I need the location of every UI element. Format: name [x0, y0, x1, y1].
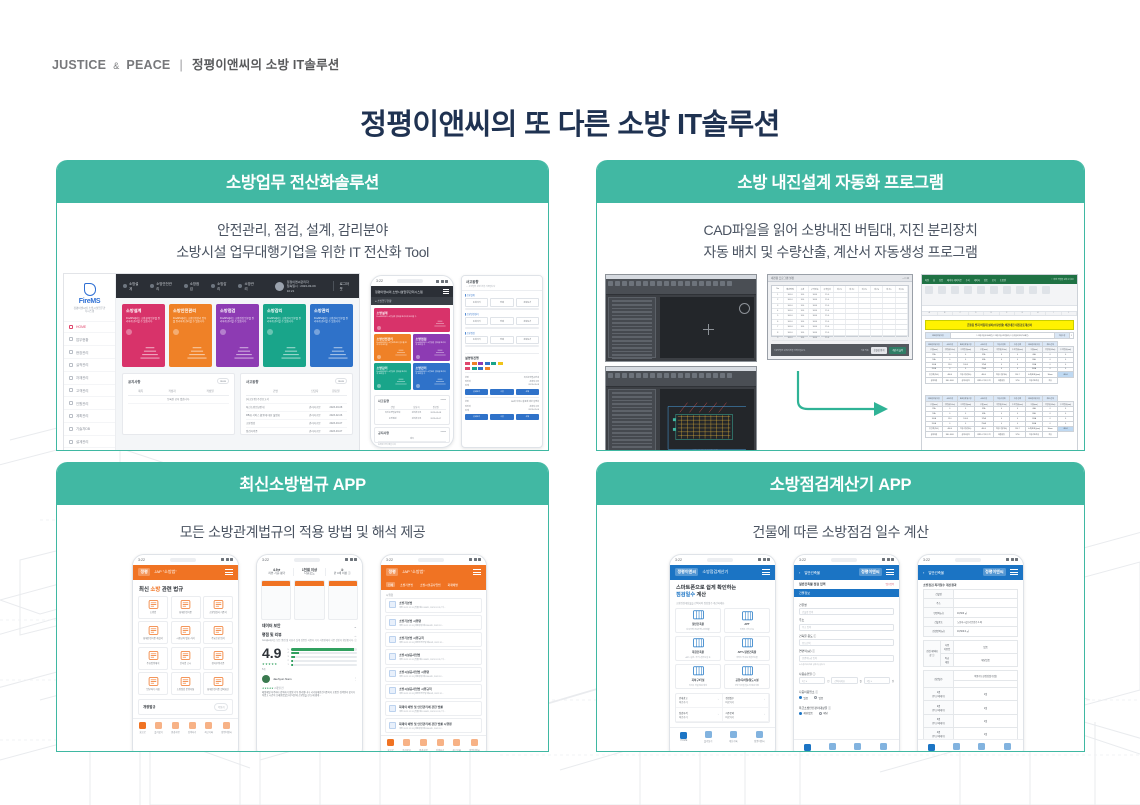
list-item[interactable]: 소방시설공사업법 시행규칙개정 2022.12.31 [행정안전부령 제00호,…	[385, 684, 482, 699]
data-security-label: 데이터 보안	[262, 624, 281, 629]
trend-col-1: 담당자	[305, 387, 325, 395]
dlg-cell-3-10	[896, 309, 908, 313]
hamburger-icon-4[interactable]	[886, 569, 894, 575]
radio-calc-radio-1-1[interactable]: 없음	[814, 696, 823, 700]
law-category-7[interactable]: 건축법 고시	[171, 647, 201, 670]
law-filter-3[interactable]: 화재예방	[446, 582, 460, 587]
card-law-app: 최신소방법규 APP 모든 소방관계법규의 적용 방법 및 해석 제공 3:22…	[56, 462, 549, 752]
chevron-down-icon[interactable]: ⌄	[354, 624, 357, 629]
law-filter-1[interactable]: 소방기본법	[398, 582, 415, 587]
mobile-tile-arrow-1[interactable]	[377, 355, 381, 359]
m2-k-1-0: 현장	[465, 400, 469, 403]
mobile-tile-arrow-3[interactable]	[377, 384, 381, 388]
fireMS-menu-item-2[interactable]: 현장관리	[64, 345, 115, 358]
m2-k-0-1: 담당자	[465, 380, 471, 383]
dlg-cell-7-2: 100	[797, 330, 809, 334]
menu-label-7: 계획관리	[76, 413, 88, 418]
m2-act-0-0[interactable]: 상세보기	[465, 389, 488, 395]
mobile2-title: 사고동향	[466, 279, 538, 284]
calc-type-5[interactable]: 공항/지하철/철도시설공항 지하철 철도역 점검 대상	[724, 664, 770, 689]
law-category-grid[interactable]: 소방법화재안전기준소방법검사 기준서화재안전기준 해설서시행규칙 별표 서식주요…	[133, 596, 238, 696]
panel-notice: 공지사항 more 제목 작성자 작성일 등록된 공지 없습니다.	[122, 373, 235, 435]
mobile2-btn-1-2[interactable]: 상세보기	[516, 317, 539, 325]
menu-label-0: HOME	[76, 325, 86, 329]
tab-home[interactable]: HOME	[680, 732, 687, 742]
list-item[interactable]: 화재의 예방 및 안전관리에 관한 법률개정 2022.12.31 [법률 제1…	[385, 701, 482, 716]
chevron-right-icon-1: ›	[764, 699, 765, 701]
law-category-8[interactable]: 행자부령기준	[203, 647, 233, 670]
cad-screenshot-top	[605, 274, 757, 362]
excel-colhdr-8: I	[1046, 312, 1062, 315]
calc-field-1[interactable]: 주소주소 입력	[799, 618, 894, 631]
topbar-item-4[interactable]: 소방관리	[238, 281, 256, 291]
tab-label-2: 변경사항	[419, 748, 427, 752]
fireMS-menu-item-8[interactable]: 기술자DB	[64, 422, 115, 435]
dialog-close-icon[interactable]: – □ ✕	[902, 277, 909, 280]
play-store-phone: 3:22 4.9★리뷰 기준 평가1천회 이상다운로드①만 3세 이상 ⓘ 데이…	[256, 554, 363, 752]
mobile-tile-arrow-0[interactable]	[377, 326, 381, 330]
calc-radio-2-label: 특급소방안전관리대상물 ⓘ	[799, 706, 894, 710]
calc-field-input-2[interactable]: 용도선택	[799, 639, 894, 646]
tab-search[interactable]: 검색하기	[188, 722, 196, 734]
calc-tabbar-3[interactable]: HOME즐겨찾기계산기록정평이앤씨	[918, 739, 1023, 752]
result-exception-val-0: 없음	[954, 640, 1018, 653]
calc-form-subsection: 건물정보	[794, 589, 899, 597]
calc-link-3[interactable]: 자주문의바로가기›	[723, 708, 770, 722]
doc-icon	[213, 599, 224, 610]
tile-arrow-icon-4[interactable]	[314, 329, 320, 335]
radio-calc-radio-2-0[interactable]: 해당없음	[799, 711, 813, 715]
topbar-item-3[interactable]: 소방감리	[211, 281, 229, 291]
mobile2-btn-0-0[interactable]: 조회하기	[465, 298, 488, 306]
mobile2-btn-1-1[interactable]: 전체	[490, 317, 513, 325]
mobile2-btn-1-0[interactable]: 조회하기	[465, 317, 488, 325]
hamburger-icon[interactable]	[225, 569, 233, 575]
data-security-section[interactable]: 데이터 보안 ⌄	[257, 620, 362, 629]
list-item[interactable]: 소방기본법개정 2022.12.31 [법률 제19160호, 2023.12.…	[385, 598, 482, 613]
tab-label-4: 최근기록	[205, 730, 213, 734]
tile-arrow-icon-1[interactable]	[173, 329, 179, 335]
tab-filter[interactable]: 변경사항	[419, 739, 427, 751]
mobile2-card-0[interactable]: 현장최신소방법규안내담당자관리자구분상태2023-03-08상세보기수정삭제	[465, 372, 539, 397]
calc-appbar: 정평이앤씨 소방점검계산기	[670, 565, 775, 580]
download-icon	[453, 739, 460, 746]
tab-label-3: 정평이앤씨	[754, 739, 765, 743]
fireMS-menu-item-5[interactable]: 고객관리	[64, 384, 115, 397]
topbar-item-1[interactable]: 소방안전관리	[150, 281, 175, 291]
calc-field-3[interactable]: 연면적(㎡) ⓘ연면적(㎡) 입력소수점2자리까지 입력가능합니다	[799, 649, 894, 666]
law-filter-2[interactable]: 소방시설공사업법	[418, 582, 443, 587]
mobile2-btn-2-0[interactable]: 조회하기	[465, 336, 488, 344]
dlg-cell-8-7	[859, 336, 871, 340]
tab-doc[interactable]: 계산기록	[853, 743, 861, 752]
rating-count: 5개	[262, 667, 281, 671]
fireMS-tile-2[interactable]: 소방점검FireMS에서는 소방점검 업무를 편리하게 관리할 수 있습니다.	[216, 304, 259, 367]
list-item[interactable]: 화재의 예방 및 안전관리에 관한 법률 시행령개정 2022.12.31 [대…	[385, 718, 482, 733]
tab-star[interactable]: 즐겨찾기	[828, 743, 836, 752]
calc-link-1[interactable]: 점검일수바로가기›	[723, 694, 770, 708]
fireMS-desktop-screenshot: FireMS 정평이앤씨의 소방시설업무관리시스템 HOME업무현황현장관리실적…	[63, 273, 360, 451]
result-day-key-1: 2명(주소/세대수)	[924, 701, 954, 714]
back-icon[interactable]: ‹	[799, 570, 800, 575]
rating-bar-star-3: 2	[287, 660, 288, 662]
mobile-panel-2-more[interactable]: more	[441, 431, 446, 435]
m2-act-0-1[interactable]: 수정	[490, 389, 513, 395]
mobile2-btn-0-1[interactable]: 전체	[490, 298, 513, 306]
mobile2-card-1[interactable]: 현장DB화 서비스 활용에 대한 설명회담당자관리자구분상태2023-02-06…	[465, 397, 539, 422]
calc-building-type-grid[interactable]: 일반건축물단독주택 공동주택 근린생활APT아파트 기숙사 등복합건축물APT+…	[670, 608, 775, 689]
law-revision-more[interactable]: 더보기	[214, 703, 228, 711]
tab-label-1: 즐겨찾기	[704, 739, 712, 743]
law-category-9[interactable]: 업무처리 지침	[138, 672, 168, 695]
excel-ribbon-tabs[interactable]: 파일홈삽입페이지 레이아웃수식데이터검토보기도움말♡ 어떤 작업을 원하시나요?	[922, 275, 1077, 284]
law-list-appbar: 정평 JAP "소방법"	[381, 565, 486, 580]
calc-field-2[interactable]: 건축물 용도 ⓘ용도선택	[799, 634, 894, 647]
calc-approval-input-0[interactable]: 1년 ▾	[799, 677, 825, 684]
hamburger-icon-3[interactable]	[762, 569, 770, 575]
excel-tab-4[interactable]: 수식	[966, 278, 970, 282]
calc-radio-group-1[interactable]: 다중이용업소 ⓘ 있음없음	[794, 684, 899, 700]
tab-home[interactable]: HOME	[804, 744, 811, 752]
tab-doc[interactable]: 계산기록	[977, 743, 985, 752]
law-doc-icon-0	[389, 601, 396, 608]
hamburger-icon-2[interactable]	[473, 569, 481, 575]
law-category-11[interactable]: 화재안전기준 질의회신	[203, 672, 233, 695]
logout-button[interactable]: 로그아웃	[333, 281, 352, 291]
mobile2-btn-0-2[interactable]: 상세보기	[516, 298, 539, 306]
tile-arrow-icon-2[interactable]	[220, 329, 226, 335]
calc-hero-line1: 스마트폰으로 쉽게 확인하는	[676, 585, 769, 592]
mobile-tile-3[interactable]: 소방감리FireMS에서는 소방감리 업무를 편리하게 관리할 수	[374, 363, 411, 390]
list-item[interactable]: 소방기본법 시행규칙개정 2022.12.31 [행정안전부령 제00호, 20…	[385, 632, 482, 647]
mobile-tile-arrow-2[interactable]	[416, 355, 420, 359]
m2-act-1-2[interactable]: 삭제	[516, 414, 539, 420]
law-list-title: JAP "소방법"	[402, 569, 469, 575]
mobile-tile-title-1: 소방안전관리	[377, 337, 409, 341]
play-store-screenshots[interactable]	[257, 580, 362, 620]
law-list[interactable]: 소방기본법개정 2022.12.31 [법률 제19160호, 2023.12.…	[381, 598, 486, 734]
tab-company[interactable]: 정평이앤씨	[1002, 743, 1013, 752]
mobile-tile-0[interactable]: 소방설계FireMS에서는 소방설계 업무를 편리하게 관리할 수	[374, 308, 450, 332]
tab-company[interactable]: 정평이앤씨	[469, 739, 480, 751]
review-date: 2개월 전	[274, 687, 283, 690]
calc-field-input-0[interactable]: 건물명 입력	[799, 608, 894, 615]
tab-search[interactable]: 검색하기	[436, 739, 444, 751]
calc-field-0[interactable]: 건물명건물명 입력	[799, 603, 894, 616]
calc-link-2[interactable]: 점검자격바로가기›	[676, 708, 723, 722]
fireMS-menu-item-4[interactable]: 자재관리	[64, 371, 115, 384]
tab-label-5: 정평이앤씨	[469, 748, 480, 752]
calc-type-1[interactable]: APT아파트 기숙사 등	[724, 608, 770, 633]
law-list-phone: 3:22 정평 JAP "소방법" 전체소방기본법소방시설공사업법화재예방 시행…	[380, 554, 487, 752]
tab-label-3: 검색하기	[436, 748, 444, 752]
fireMS-user-block[interactable]: 정정이앤씨관리자 접속일시 : 2023-03-09 10:21	[275, 280, 324, 293]
result-exception-key-0: 다중이용업	[940, 640, 953, 653]
fireMS-tile-4[interactable]: 소방관리FireMS에서는 소방관리 업무를 편리하게 관리할 수 있습니다.	[310, 304, 353, 367]
panel-trend-more[interactable]: more	[335, 378, 347, 384]
tab-company[interactable]: 정평이앤씨	[878, 743, 889, 752]
tab-star[interactable]: 즐겨찾기	[952, 743, 960, 752]
result-day-val-1: 1일	[954, 701, 1018, 714]
excel-tab-7[interactable]: 보기	[992, 278, 996, 282]
tab-filter[interactable]: 변경사항	[171, 722, 179, 734]
store-stat-0: 4.9★리뷰 기준 평가	[261, 568, 294, 576]
list-item[interactable]: 소방시설공사업법개정 2022.12.31 [법률 제19160호, 2023.…	[385, 649, 482, 664]
tab-star[interactable]: 즐겨찾기	[704, 731, 712, 743]
blueprint-icon	[137, 339, 163, 365]
card-4-media: 3:22 정평이앤씨 소방점검계산기 스마트폰으로 쉽게 확인하는 점검일수 계…	[597, 550, 1084, 752]
fireMS-menu-item-9[interactable]: 설계관리	[64, 435, 115, 448]
store-shot-1[interactable]	[261, 580, 291, 620]
dlg-cell-2-9	[883, 304, 895, 308]
law-category-3[interactable]: 화재안전기준 해설서	[138, 621, 168, 644]
calc-type-label-2: 복합건축물	[692, 650, 704, 654]
dlg-cell-5-1: 100.0	[784, 320, 796, 324]
fireMS-tile-3[interactable]: 소방감리FireMS에서는 소방감리 업무를 편리하게 관리할 수 있습니다.	[263, 304, 306, 367]
table-row[interactable]: 최신소방법규안내관리자구분2023-03-08	[246, 403, 347, 411]
excel-cell-5-1: 380~1000	[942, 378, 957, 384]
list-item[interactable]: 소방시설공사업법 시행령개정 2022.12.31 [대통령령 제33004호,…	[385, 667, 482, 682]
excel-tab-1[interactable]: 홈	[933, 278, 935, 282]
store-shot-3[interactable]	[328, 580, 358, 620]
dlg-cell-4-10	[896, 314, 908, 318]
calc-type-2[interactable]: 복합건축물APT+일반 / 주거+업무시설 등	[675, 636, 721, 661]
calc-form-logo: 정평이앤씨	[859, 568, 882, 576]
excel-tab-6[interactable]: 검토	[984, 278, 988, 282]
rating-bar-star-4: 1	[287, 664, 288, 666]
tools-icon	[180, 650, 191, 661]
home-icon	[928, 744, 935, 751]
back-icon-2[interactable]: ‹	[923, 570, 924, 575]
result-day-key-2: 3명(주소/세대수)	[924, 714, 954, 727]
filter-icon	[172, 722, 179, 729]
excel-tab-2[interactable]: 삽입	[939, 278, 943, 282]
calc-tabbar-1[interactable]: HOME즐겨찾기계산기록정평이앤씨	[670, 727, 775, 747]
calc-type-label-1: APT	[744, 623, 749, 626]
dlg-cell-8-6	[846, 336, 858, 340]
calc-approval-input-4[interactable]: 1일 ▾	[864, 677, 890, 684]
calc-home-phone: 3:22 정평이앤씨 소방점검계산기 스마트폰으로 쉽게 확인하는 점검일수 계…	[669, 554, 776, 752]
fireMS-menu-item-0[interactable]: HOME	[64, 321, 115, 333]
dlg-cell-1-10	[896, 298, 908, 302]
fireMS-menu-item-1[interactable]: 업무현황	[64, 332, 115, 345]
dlg-cell-4-4: 15.0	[821, 314, 833, 318]
tab-star[interactable]: 즐겨찾기	[402, 739, 410, 751]
tab-label-0: 홈으로	[387, 748, 393, 752]
status-time-law-1: 3:22	[138, 558, 145, 562]
dlg-cell-4-0: 5	[772, 314, 784, 318]
tab-star[interactable]: 즐겨찾기	[154, 722, 162, 734]
law-revision-bar[interactable]: 개정법규 더보기	[138, 699, 233, 715]
law-category-label-8: 행자부령기준	[211, 663, 226, 666]
law-category-0[interactable]: 소방법	[138, 596, 168, 619]
excel-tab-0[interactable]: 파일	[925, 278, 929, 282]
tab-download[interactable]: 최근기록	[205, 722, 213, 734]
tab-download[interactable]: 최근기록	[453, 739, 461, 751]
card-3-description: 모든 소방관계법규의 적용 방법 및 해석 제공	[57, 505, 548, 550]
fireMS-menu-list[interactable]: HOME업무현황현장관리실적관리자재관리고객관리인원관리계획관리기술자DB설계관…	[64, 321, 115, 451]
fireMS-menu-item-3[interactable]: 실적관리	[64, 358, 115, 371]
law-category-1[interactable]: 화재안전기준	[171, 596, 201, 619]
review-block: Jaehyun Nam ⋮ ★★★★★ 2개월 전 매일매일 자주마다 검색하기…	[257, 671, 362, 698]
m2-act-1-0[interactable]: 상세보기	[465, 414, 488, 420]
dlg-cell-0-7	[859, 293, 871, 297]
tab-home[interactable]: HOME	[928, 744, 935, 752]
list-item[interactable]: 소방기본법 시행령개정 2022.12.31 [대통령령 제33004호, 20…	[385, 615, 482, 630]
law-category-4[interactable]: 시행규칙 별표 서식	[171, 621, 201, 644]
tab-company[interactable]: 정평이앤씨	[754, 731, 765, 743]
fireMS-menu-item-7[interactable]: 계획관리	[64, 409, 115, 422]
calc-appbar-logo: 정평이앤씨	[675, 568, 698, 576]
dlg-cell-5-7	[859, 320, 871, 324]
topbar-item-2[interactable]: 소방점검	[184, 281, 202, 291]
hamburger-icon-5[interactable]	[1010, 569, 1018, 575]
excel-tab-5[interactable]: 데이터	[974, 278, 980, 282]
dlg-col-1: 배관명칭	[784, 286, 796, 291]
status-time-law-3: 3:22	[386, 558, 393, 562]
review-menu-icon[interactable]: ⋮	[354, 677, 357, 681]
apartment-icon	[741, 610, 754, 621]
calc-quick-links[interactable]: 안내광고바로가기›점검일수바로가기›점검자격바로가기›자주문의바로가기›	[675, 693, 770, 723]
calc-field-input-1[interactable]: 주소 입력	[799, 624, 894, 631]
law-filter-0[interactable]: 전체	[386, 582, 395, 587]
dialog-calc-button[interactable]: 계산서 출력	[889, 347, 906, 354]
ratings-section[interactable]: 평점 및 리뷰 →	[257, 629, 362, 638]
mixed-building-icon	[692, 637, 705, 648]
tile-sub-2: FireMS에서는 소방점검 업무를 편리하게 관리할 수 있습니다.	[220, 317, 255, 323]
mobile-tile-arrow-4[interactable]	[416, 384, 420, 388]
topbar-item-0[interactable]: 소방설계	[123, 281, 141, 291]
dialog-field-value[interactable]: 흔들림 방지	[871, 347, 888, 354]
calc-radio-group-2[interactable]: 특급소방안전관리대상물 ⓘ 해당없음해당	[794, 700, 899, 716]
law-category-10[interactable]: 소방점검 운영지침	[171, 672, 201, 695]
panel-notice-more[interactable]: more	[217, 378, 229, 384]
excel-tab-8[interactable]: 도움말	[1000, 278, 1006, 282]
fireMS-tile-row: 소방설계FireMS에서는 소방설계 업무를 편리하게 관리할 수 있습니다.소…	[116, 298, 359, 367]
tab-company[interactable]: 정평이앤씨	[221, 722, 232, 734]
calc-field-input-3[interactable]: 연면적(㎡) 입력	[799, 655, 894, 662]
law-tabbar-1[interactable]: 홈으로즐겨찾기변경사항검색하기최근기록정평이앤씨	[133, 718, 238, 738]
excel-colhdr-0: A	[922, 312, 938, 315]
tab-label-1: 즐겨찾기	[402, 748, 410, 752]
alarm-icon	[278, 339, 304, 365]
calc-type-3[interactable]: APT+일반건축물아파트 부속동 복합건축물	[724, 636, 770, 661]
mobile-panel-2-col: 제목	[378, 437, 446, 442]
calc-tabbar-2[interactable]: HOME즐겨찾기계산기록정평이앤씨	[794, 739, 899, 752]
tile-arrow-icon-0[interactable]	[126, 329, 132, 335]
fireMS-logo-subtitle: 정평이앤씨의 소방시설업무관리시스템	[73, 307, 107, 313]
dlg-cell-1-0: 2	[772, 298, 784, 302]
mobile2-btn-2-1[interactable]: 전체	[490, 336, 513, 344]
fireMS-tile-0[interactable]: 소방설계FireMS에서는 소방설계 업무를 편리하게 관리할 수 있습니다.	[122, 304, 165, 367]
fireMS-tile-1[interactable]: 소방안전관리FireMS에서는 소방안전관리 업무를 편리하게 관리할 수 있습…	[169, 304, 212, 367]
mobile2-btn-2-2[interactable]: 상세보기	[516, 336, 539, 344]
mobile-panel-1-more[interactable]: more	[441, 399, 446, 403]
arrow-right-icon[interactable]: →	[353, 633, 357, 638]
alarm-icon	[393, 372, 409, 388]
result-key-2: 연면적(㎡)	[924, 608, 954, 617]
dlg-col-9: 비고5	[883, 286, 895, 291]
fireMS-panel-row: 공지사항 more 제목 작성자 작성일 등록된 공지 없습니다.	[116, 367, 359, 441]
calc-type-0[interactable]: 일반건축물단독주택 공동주택 근린생활	[675, 608, 721, 633]
mobile-tile-title-4: 소방관리	[416, 366, 448, 370]
calc-link-0[interactable]: 안내광고바로가기›	[676, 694, 723, 708]
table-row[interactable]: [사고동향] 주간보고서	[246, 395, 347, 403]
law-doc-icon-3	[389, 653, 396, 660]
law-category-5[interactable]: 주요소방 법식	[203, 621, 233, 644]
table-row: 설계하중380~1000설계허용치내진1.0 이내 수치제품중량1750적용기준…	[926, 432, 1074, 438]
excel-cell-5-2: 설계허용치	[957, 432, 974, 438]
excel-search-hint[interactable]: ♡ 어떤 작업을 원하시나요?	[1051, 278, 1074, 281]
dlg-cell-5-3: 1000	[809, 320, 821, 324]
store-shot-2[interactable]	[294, 580, 324, 620]
law-category-label-4: 시행규칙 별표 서식	[175, 638, 195, 641]
radio-calc-radio-1-0[interactable]: 있음	[799, 696, 808, 700]
calc-result-info-table: 건물명주소연면적(㎡)16,500 ㎡건물용도노유자시설 (기본점수 1.0)점…	[923, 589, 1018, 637]
radio-calc-radio-2-1[interactable]: 해당	[819, 711, 828, 715]
law-category-label-9: 업무처리 지침	[145, 689, 160, 692]
menu-icon-6	[69, 401, 73, 405]
calc-form-fields[interactable]: 건물명건물명 입력주소주소 입력건축물 용도 ⓘ용도선택연면적(㎡) ⓘ연면적(…	[794, 597, 899, 666]
menu-label-8: 기술자DB	[76, 426, 90, 431]
mobile-tile-2[interactable]: 소방점검FireMS에서는 소방점검 업무를 편리하게 관리할 수	[413, 334, 450, 361]
law-category-6[interactable]: 주요법령해석	[138, 647, 168, 670]
calc-approval-input-2[interactable]: 선택하세요	[831, 677, 857, 684]
home-icon	[680, 732, 687, 739]
law-item-title-4: 소방시설공사업법 시행령	[399, 670, 443, 674]
excel-subheader-table: 배관종류및구경 1. 배관구분(옥내소화전), 2. 배관구분(스프링클러), …	[925, 332, 1074, 339]
tab-home[interactable]: 홈으로	[387, 739, 394, 751]
rating-bar-star-2: 3	[287, 656, 288, 658]
fireMS-menu-item-10[interactable]: 환경설정	[64, 447, 115, 451]
dlg-cell-5-9	[883, 320, 895, 324]
dlg-cell-8-0: 9	[772, 336, 784, 340]
calc-link-label-3: 자주문의	[726, 711, 734, 715]
card-4-title: 소방점검계산기 APP	[597, 462, 1084, 505]
law-tabbar-2[interactable]: 홈으로즐겨찾기변경사항검색하기최근기록정평이앤씨	[381, 735, 486, 752]
rating-bar-3: 3	[287, 656, 357, 658]
rating-stars: ★★★★★	[262, 662, 281, 666]
tile-arrow-icon-3[interactable]	[267, 329, 273, 335]
company-icon	[756, 731, 763, 738]
tab-doc[interactable]: 계산기록	[729, 731, 737, 743]
fireMS-menu-item-6[interactable]: 인원관리	[64, 396, 115, 409]
law-filter-tabs[interactable]: 전체소방기본법소방시설공사업법화재예방	[381, 580, 486, 590]
dlg-col-5: 비고1	[834, 286, 846, 291]
law-hero-post: 관련 법규	[160, 587, 183, 593]
status-bar-calc-3: 3:22	[918, 555, 1023, 565]
tab-label-2: 계산기록	[853, 751, 861, 752]
table-row[interactable]: 점검자격증관리자구분2023-03-07	[246, 427, 347, 435]
m2-act-1-1[interactable]: 수정	[490, 414, 513, 420]
excel-tab-3[interactable]: 페이지 레이아웃	[947, 278, 962, 282]
mobile-tile-1[interactable]: 소방안전관리FireMS에서는 소방안전관리 업무를 편리하게 관리할	[374, 334, 411, 361]
dlg-col-10: 비고6	[896, 286, 908, 291]
calc-type-4[interactable]: 지하구/터널지하구 터널 점검 대상	[675, 664, 721, 689]
law-category-2[interactable]: 소방법검사 기준서	[203, 596, 233, 619]
mobile-tile-4[interactable]: 소방관리FireMS에서는 소방관리 업무를 편리하게 관리할 수	[413, 363, 450, 390]
table-row[interactable]: DB화 서비스 활용에 대한 설명회관리자구분2023-02-06	[246, 411, 347, 419]
tab-home[interactable]: 홈으로	[139, 722, 146, 734]
mobile-appbar: 정평이앤씨의 소방시설업무관리시스템	[371, 286, 453, 297]
table-row[interactable]: 9100.0100100015.0	[772, 336, 908, 341]
dlg-cell-0-8	[871, 293, 883, 297]
table-row[interactable]: 소방점검관리자구분2023-03-07	[246, 419, 347, 427]
m2-act-0-2[interactable]: 삭제	[516, 389, 539, 395]
card-inspection-calculator: 소방점검계산기 APP 건물에 따른 소방점검 일수 계산 3:22 정평이앤씨…	[596, 462, 1085, 752]
calc-approval-row[interactable]: 사용승인일 ⓘ 1년 ▾년선택하세요월1일 ▾일	[794, 666, 899, 685]
tile-sub-0: FireMS에서는 소방설계 업무를 편리하게 관리할 수 있습니다.	[126, 317, 161, 323]
